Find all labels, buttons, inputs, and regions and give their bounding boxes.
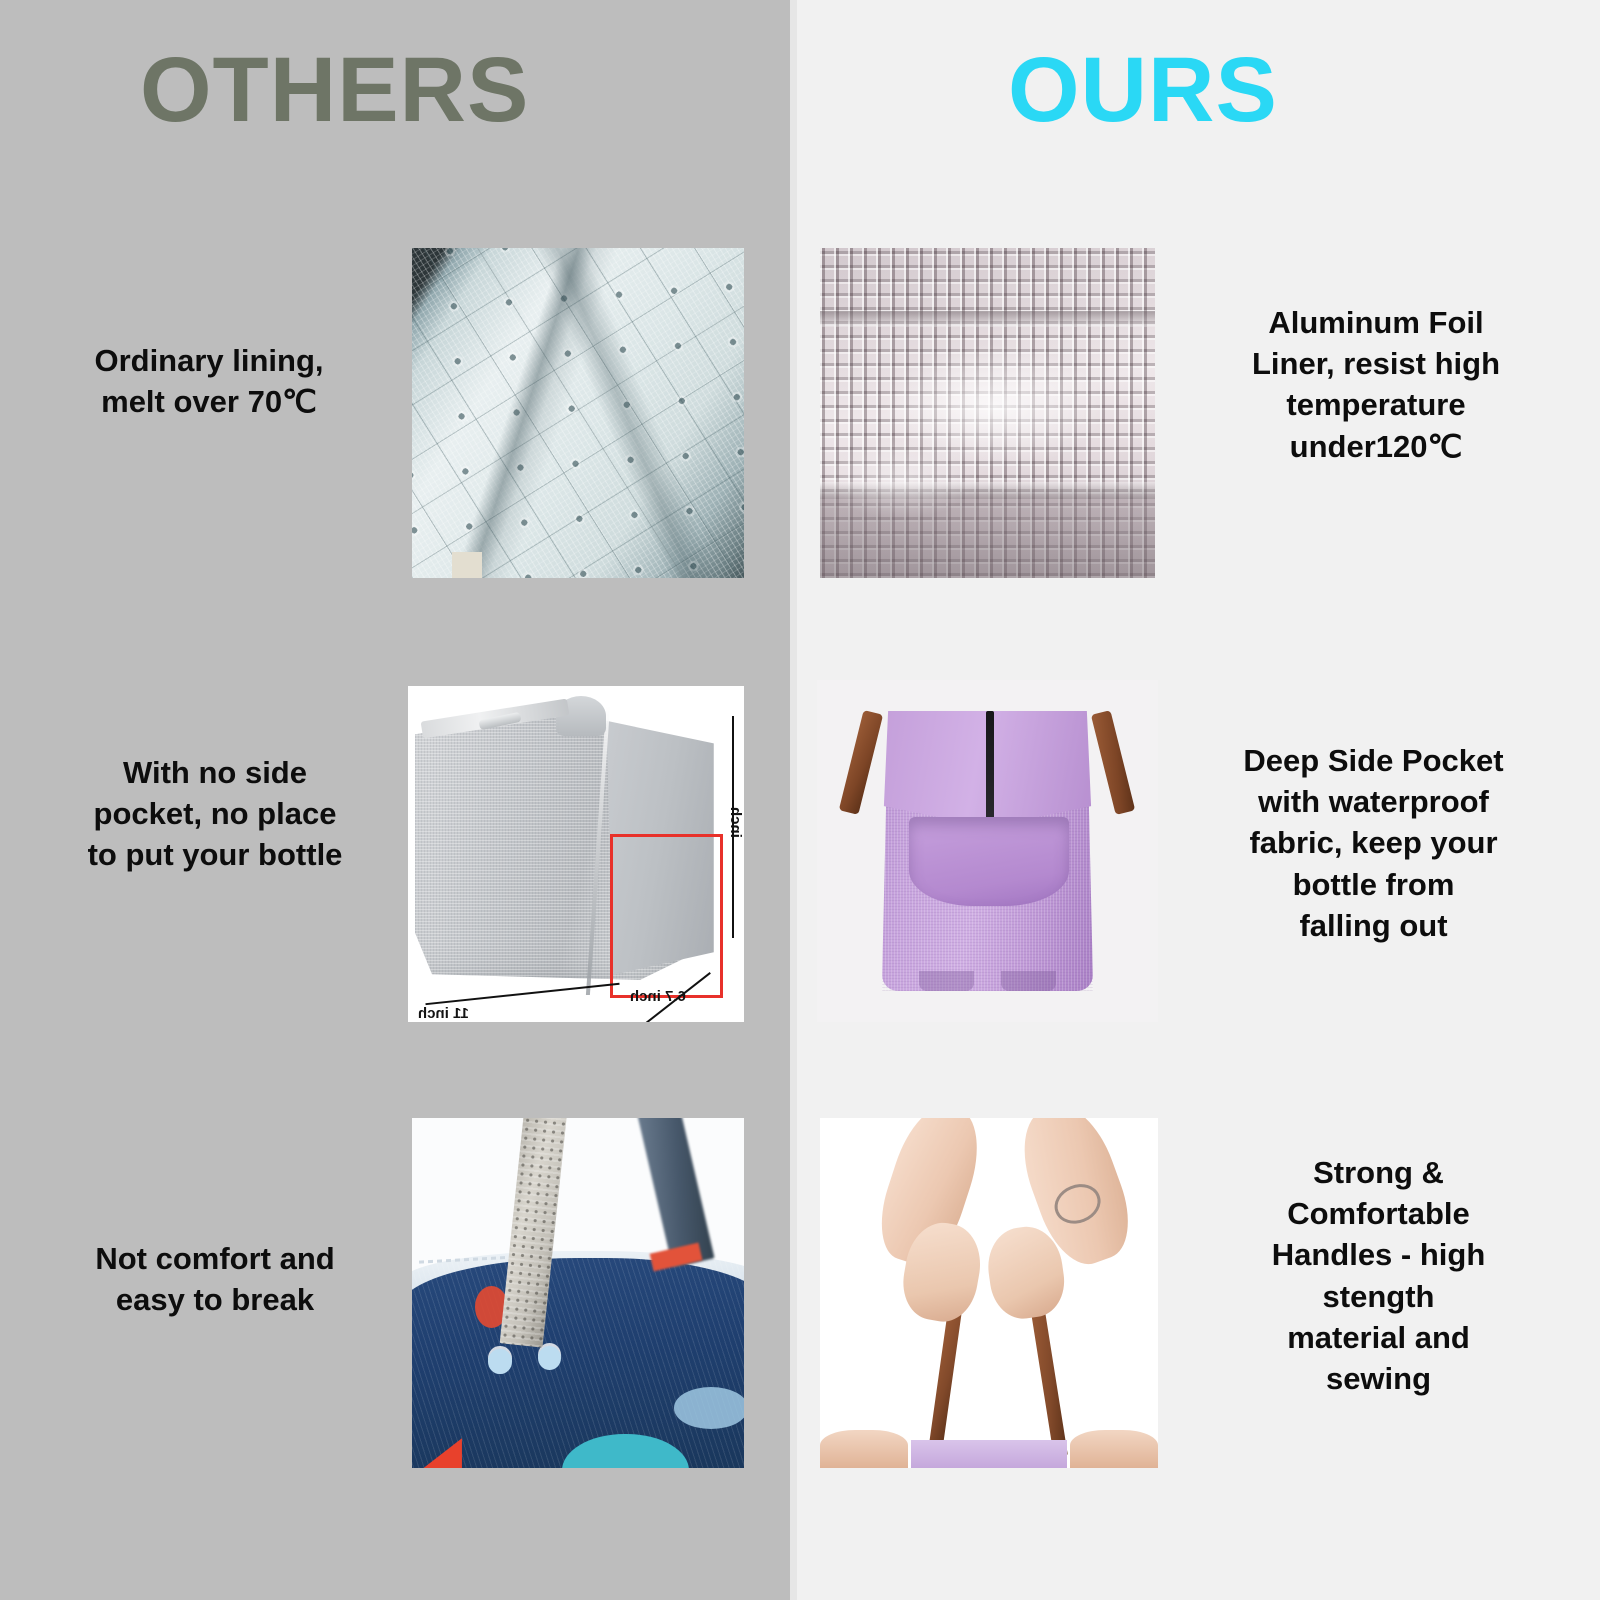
panel-divider: [790, 0, 797, 1600]
leather-handle-right: [1030, 1303, 1068, 1457]
ours-photo-handle-strength-test: [820, 1118, 1158, 1468]
comparison-infographic: OTHERS OURS Ordinary lining, melt over 7…: [0, 0, 1600, 1600]
others-photo-webbing-strap: [412, 1118, 744, 1468]
leather-handle-left: [839, 710, 884, 814]
others-photo-bag-dimensions: 11 inch 6.7 inch inch: [408, 686, 744, 1022]
dimension-width-label: 11 inch: [418, 1005, 469, 1022]
lower-hand-right: [1070, 1430, 1158, 1469]
dimension-depth-label: 6.7 inch: [630, 988, 686, 1005]
side-pocket-shape: [909, 817, 1069, 906]
ours-caption-foil-liner: Aluminum Foil Liner, resist high tempera…: [1196, 302, 1556, 467]
ours-photo-foil-liner: [820, 248, 1155, 578]
others-caption-no-pocket: With no side pocket, no place to put you…: [40, 752, 390, 876]
leather-handle-left: [928, 1303, 963, 1457]
others-caption-lining: Ordinary lining, melt over 70℃: [24, 340, 394, 422]
purple-bag-top: [911, 1440, 1066, 1468]
dimension-height-label: inch: [727, 807, 744, 838]
lining-care-tag: [452, 552, 482, 578]
leather-handle-right: [1091, 710, 1136, 814]
ours-photo-side-pocket: [817, 680, 1158, 1022]
others-heading: OTHERS: [140, 44, 529, 136]
ours-caption-side-pocket: Deep Side Pocket with waterproof fabric,…: [1196, 740, 1551, 946]
others-photo-lining: [412, 248, 744, 578]
bag-zipper-shape: [986, 711, 994, 834]
ours-heading: OURS: [1008, 44, 1278, 136]
lower-hand-left: [820, 1430, 908, 1469]
ours-caption-handles: Strong & Comfortable Handles - high sten…: [1216, 1152, 1541, 1399]
others-caption-handles: Not comfort and easy to break: [40, 1238, 390, 1320]
